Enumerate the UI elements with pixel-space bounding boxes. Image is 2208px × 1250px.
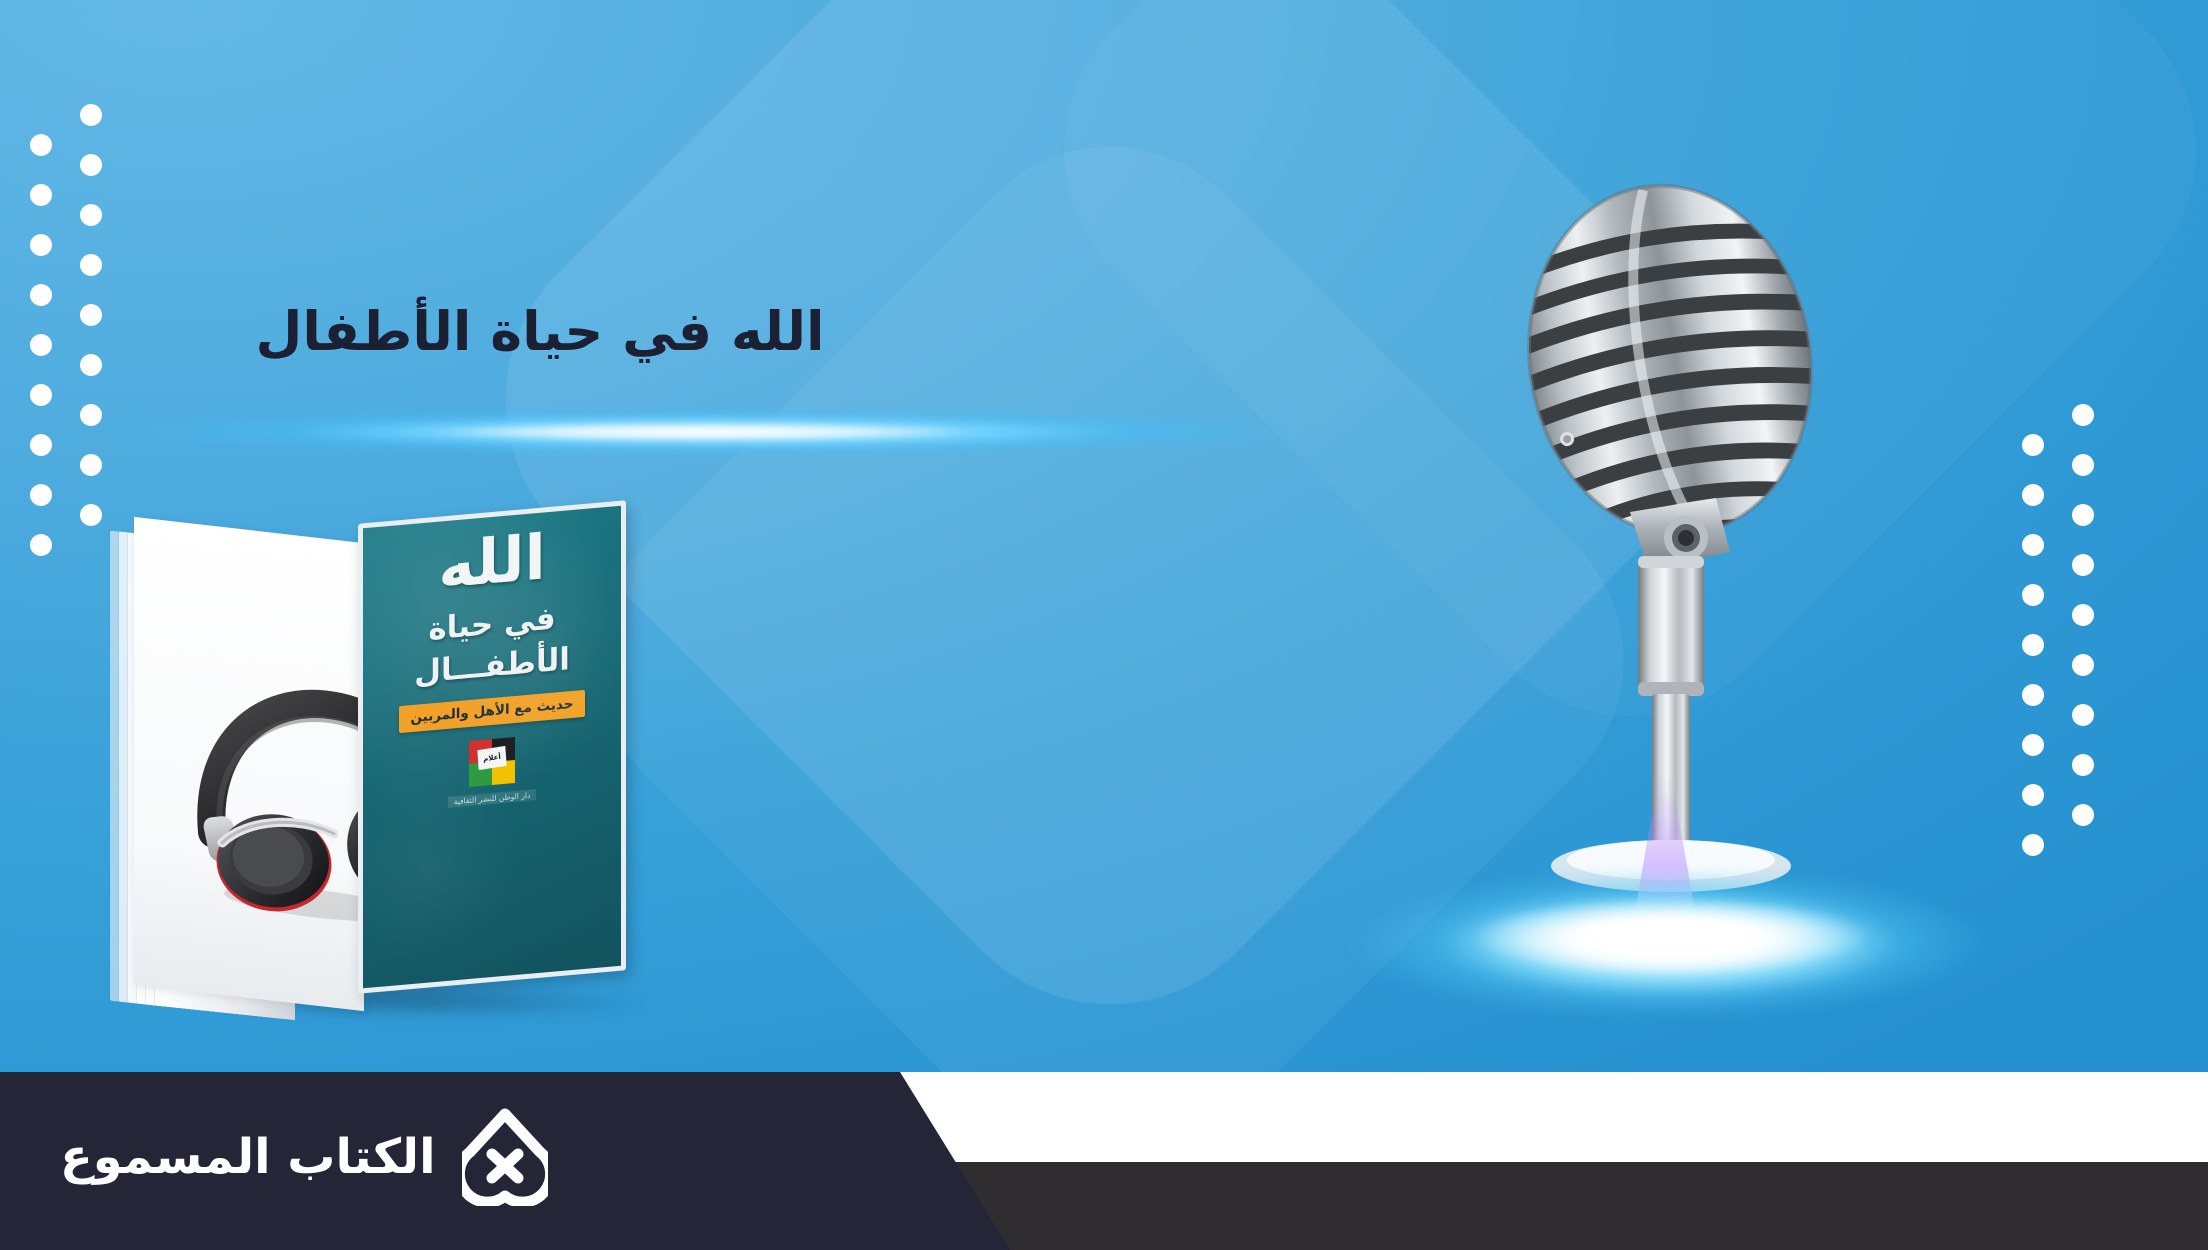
publisher-line: دار الوطن للنشر الثقافية [448, 789, 537, 808]
dot-pattern-right [2022, 404, 2094, 856]
dot [2022, 834, 2044, 856]
dot [2022, 634, 2044, 656]
dot [2072, 504, 2094, 526]
dot [2072, 604, 2094, 626]
dot [80, 204, 102, 226]
dot [2072, 454, 2094, 476]
dot [80, 504, 102, 526]
microphone-base-core [1470, 898, 1870, 976]
dot [2072, 804, 2094, 826]
book-left-page [134, 517, 364, 1011]
publisher-mark-label: أعلام [477, 746, 506, 770]
banner-title: الله في حياة الأطفال [0, 300, 1080, 363]
dot [80, 154, 102, 176]
dot [2072, 654, 2094, 676]
cover-title-line3: الأطفـــال [414, 641, 570, 691]
dot [2022, 734, 2044, 756]
dot [80, 454, 102, 476]
dot [2022, 534, 2044, 556]
brand-name: الكتاب المسموع [60, 1129, 436, 1185]
cover-subtitle-banner: حديث مع الأهل والمربين [399, 690, 586, 733]
dot [30, 534, 52, 556]
dot [2072, 404, 2094, 426]
banner-canvas: الله في حياة الأطفال [0, 0, 2208, 1250]
footer-bar: الكتاب المسموع [0, 1072, 2208, 1250]
audiobook-illustration: الله في حياة الأطفـــال حديث مع الأهل وا… [110, 520, 750, 1020]
dot [2022, 584, 2044, 606]
dot [30, 134, 52, 156]
light-streak-core [420, 425, 980, 439]
dot [30, 384, 52, 406]
dot [80, 104, 102, 126]
dot [2022, 484, 2044, 506]
dot [30, 434, 52, 456]
publisher-logo-icon: أعلام [469, 737, 515, 787]
dot [2072, 754, 2094, 776]
dot-column-a [2072, 404, 2094, 856]
dot [30, 484, 52, 506]
dot [80, 404, 102, 426]
cover-title-line2: في حياة [428, 600, 555, 647]
dot [2022, 684, 2044, 706]
dot-column-b [2022, 434, 2044, 856]
audiobook-drop-logo-icon [462, 1108, 548, 1206]
dot [2022, 784, 2044, 806]
dot [2072, 704, 2094, 726]
book-cover: الله في حياة الأطفـــال حديث مع الأهل وا… [358, 500, 626, 993]
cover-title-main: الله [438, 528, 545, 596]
dot [30, 184, 52, 206]
brand-lockup[interactable]: الكتاب المسموع [60, 1108, 548, 1206]
dot [30, 234, 52, 256]
dot [80, 254, 102, 276]
dot [2022, 434, 2044, 456]
dot [2072, 554, 2094, 576]
